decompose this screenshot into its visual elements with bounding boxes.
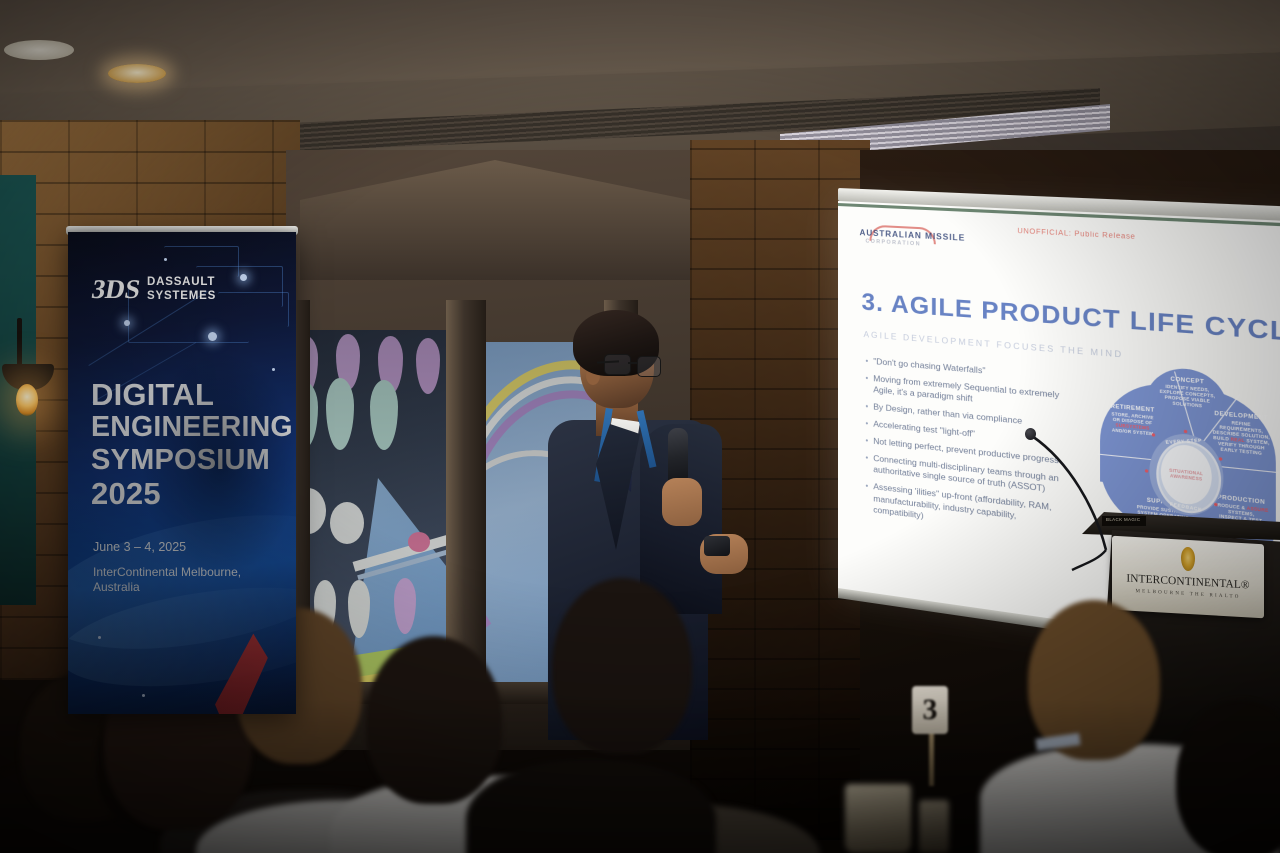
banner-lighting-overlay <box>68 232 296 714</box>
wheel-accent-dot <box>1152 433 1155 437</box>
presentation-clicker-icon <box>704 536 730 556</box>
audience-head <box>1028 600 1160 760</box>
bullet-marker-icon: • <box>865 401 868 413</box>
audience-head <box>366 636 502 804</box>
wheel-accent-dot <box>1145 469 1148 473</box>
bullet-marker-icon: • <box>865 480 868 515</box>
bullet-marker-icon: • <box>865 435 868 447</box>
bullet-marker-icon: • <box>865 418 868 430</box>
speaker-hand-holding-mic <box>662 478 702 526</box>
table-number-value: 3 <box>923 693 938 727</box>
wall-sconce-bulb-icon <box>16 384 38 416</box>
amc-logo: AUSTRALIAN MISSILE CORPORATION <box>860 228 966 250</box>
wheel-center-text: SITUATIONAL AWARENESS <box>1161 466 1212 483</box>
wall-sconce-arm <box>17 318 22 370</box>
ceiling-downlight <box>108 64 166 83</box>
lectern-plaque: INTERCONTINENTAL® MELBOURNE THE RIALTO <box>1112 536 1264 618</box>
intercontinental-leaf-icon <box>1181 547 1195 572</box>
water-glass <box>919 800 949 853</box>
table-number-sign: 3 <box>912 686 948 734</box>
wheel-accent-dot <box>1184 430 1187 434</box>
eyeglasses-bridge <box>628 362 638 364</box>
wheel-accent-dot <box>1214 503 1218 507</box>
eyeglasses-lens-icon <box>637 356 661 377</box>
microphone-capsule-icon <box>1025 428 1036 440</box>
audience-head <box>552 578 692 754</box>
audience-shoulders <box>466 760 716 853</box>
bullet-marker-icon: • <box>865 355 868 367</box>
table-number-post <box>929 726 934 786</box>
bullet-marker-icon: • <box>865 372 868 395</box>
wheel-label-development: DEVELOPMENT REFINEREQUIREMENTS,DESCRIBE … <box>1205 410 1279 458</box>
eyeglasses-lens-icon <box>604 354 631 375</box>
slide-classification-marking: UNOFFICIAL: Public Release <box>1017 219 1135 244</box>
ceiling-downlight <box>4 40 74 60</box>
gooseneck-microphone <box>1010 424 1130 554</box>
water-glass <box>845 784 911 853</box>
presentation-photo: UNOFFICIAL: Public Release AUSTRALIAN MI… <box>0 0 1280 853</box>
wheel-accent-dot <box>1219 457 1223 461</box>
bullet-marker-icon: • <box>865 452 868 475</box>
slide-subtitle: AGILE DEVELOPMENT FOCUSES THE MIND <box>863 329 1123 360</box>
